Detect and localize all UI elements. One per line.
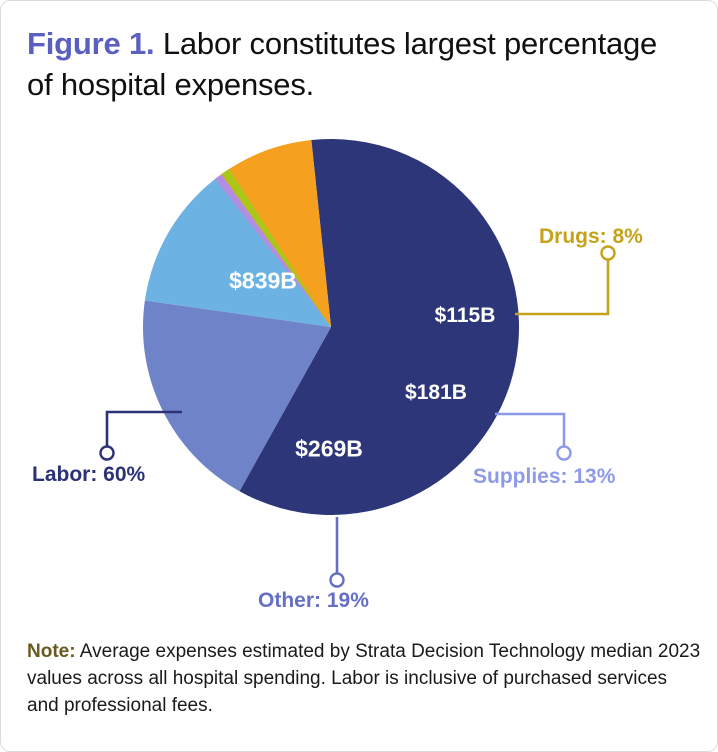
figure-card: Figure 1. Labor constitutes largest perc…	[0, 0, 718, 752]
leader-dot-supplies	[558, 447, 571, 460]
figure-number: Figure 1.	[27, 26, 154, 61]
pie-slices	[143, 139, 519, 515]
note-text: Average expenses estimated by Strata Dec…	[27, 641, 700, 716]
pie-chart: $839B $269B $181B $115B	[1, 119, 718, 629]
leader-dot-labor	[101, 447, 114, 460]
callout-label-supplies: Supplies: 13%	[473, 465, 615, 489]
callout-label-other: Other: 19%	[258, 589, 369, 613]
pie-chart-svg	[1, 119, 718, 629]
leader-line-supplies	[495, 414, 564, 446]
page-title: Figure 1. Labor constitutes largest perc…	[27, 23, 687, 105]
callout-label-labor: Labor: 60%	[32, 463, 145, 487]
leader-line-drugs	[515, 260, 608, 314]
leader-dot-other	[331, 574, 344, 587]
note-label: Note:	[27, 641, 76, 662]
callout-label-drugs: Drugs: 8%	[539, 225, 643, 249]
figure-note: Note: Average expenses estimated by Stra…	[27, 639, 703, 720]
